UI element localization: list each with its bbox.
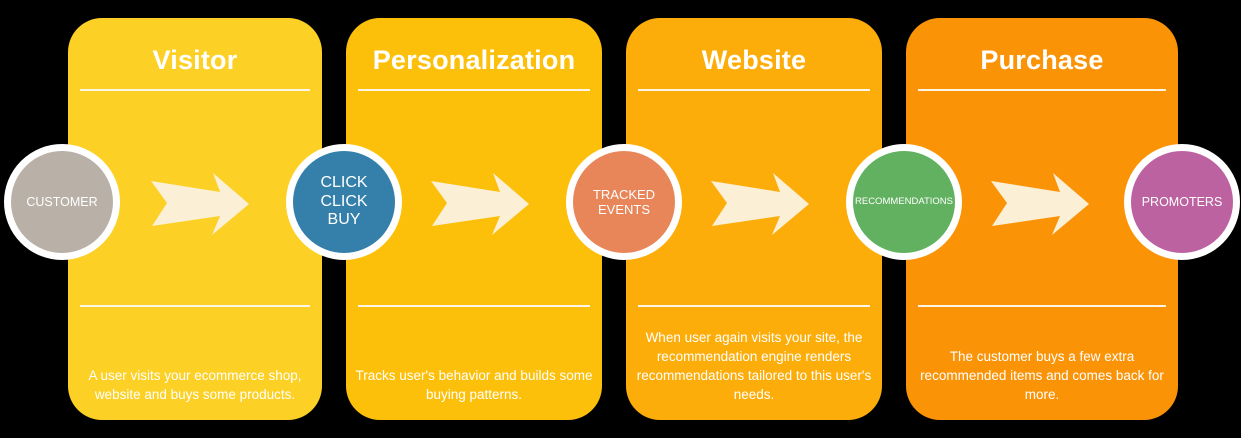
flow-arrow-3	[710, 172, 810, 236]
stage-description-visitor: A user visits your ecommerce shop, websi…	[76, 366, 314, 404]
divider-top-purchase	[918, 89, 1166, 91]
arrow-right-icon	[150, 172, 250, 236]
divider-top-website	[638, 89, 870, 91]
stage-title-purchase: Purchase	[906, 44, 1178, 76]
flow-arrow-2	[430, 172, 530, 236]
node-label-click-click-buy: CLICK CLICK BUY	[305, 174, 383, 231]
divider-bottom-website	[638, 305, 870, 307]
divider-bottom-personalization	[358, 305, 590, 307]
divider-top-personalization	[358, 89, 590, 91]
divider-bottom-visitor	[80, 305, 310, 307]
node-label-promoters: PROMOTERS	[1140, 195, 1225, 210]
node-customer[interactable]: CUSTOMER	[4, 144, 120, 260]
infographic-canvas: Visitor A user visits your ecommerce sho…	[0, 0, 1241, 438]
stage-description-personalization: Tracks user's behavior and builds some b…	[354, 366, 594, 404]
stage-description-website: When user again visits your site, the re…	[634, 328, 874, 404]
node-tracked-events[interactable]: TRACKED EVENTS	[566, 144, 682, 260]
stage-title-visitor: Visitor	[68, 44, 322, 76]
flow-arrow-4	[990, 172, 1090, 236]
arrow-right-icon	[430, 172, 530, 236]
node-label-tracked-events: TRACKED EVENTS	[579, 187, 669, 218]
stage-description-purchase: The customer buys a few extra recommende…	[914, 347, 1170, 404]
stage-title-website: Website	[626, 44, 882, 76]
arrow-right-icon	[990, 172, 1090, 236]
divider-top-visitor	[80, 89, 310, 91]
node-label-customer: CUSTOMER	[24, 195, 99, 210]
stage-title-personalization: Personalization	[346, 44, 602, 76]
flow-arrow-1	[150, 172, 250, 236]
divider-bottom-purchase	[918, 305, 1166, 307]
node-click-click-buy[interactable]: CLICK CLICK BUY	[286, 144, 402, 260]
node-recommendations[interactable]: RECOMMENDATIONS	[846, 144, 962, 260]
node-label-recommendations: RECOMMENDATIONS	[853, 196, 955, 207]
arrow-right-icon	[710, 172, 810, 236]
node-promoters[interactable]: PROMOTERS	[1124, 144, 1240, 260]
